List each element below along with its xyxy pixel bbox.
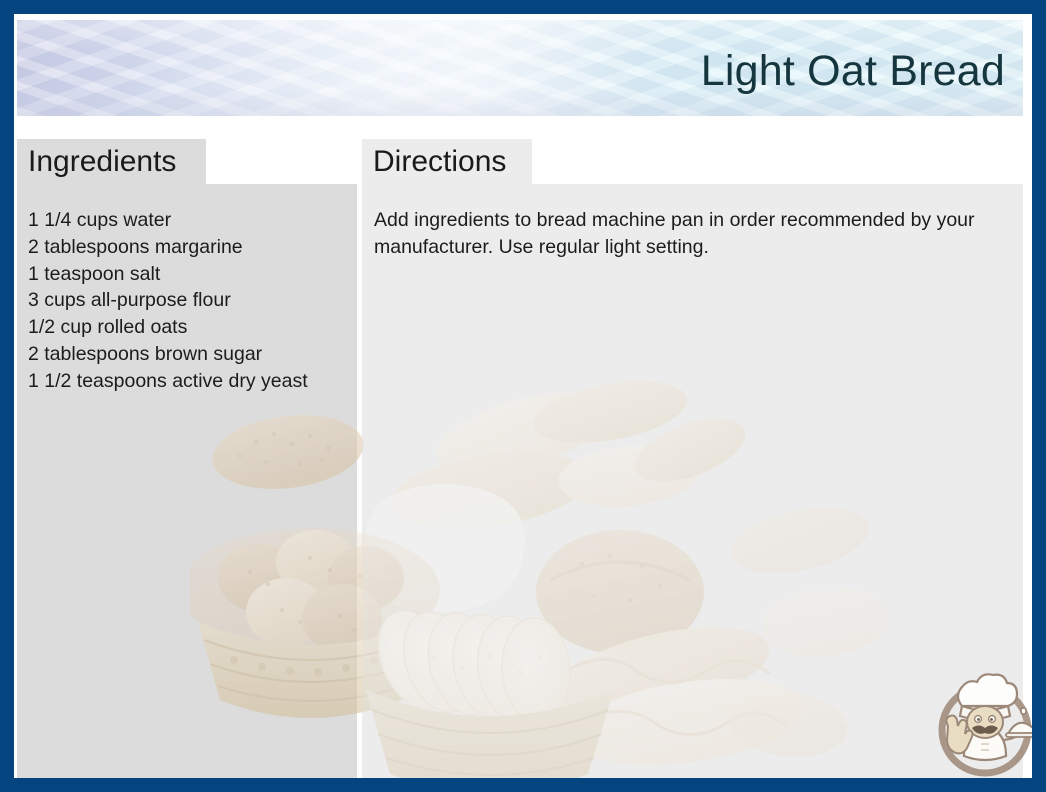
ingredients-tab-notch xyxy=(206,139,357,184)
list-item: 1/2 cup rolled oats xyxy=(28,314,350,341)
chef-with-cloche-logo xyxy=(926,660,1044,782)
tab-ingredients[interactable]: Ingredients xyxy=(17,139,206,184)
page-title: Light Oat Bread xyxy=(701,50,1005,93)
list-item: 1 teaspoon salt xyxy=(28,261,350,288)
directions-panel: Directions Add ingredients to bread mach… xyxy=(362,139,1023,783)
ingredients-list: 1 1/4 cups water 2 tablespoons margarine… xyxy=(28,207,350,395)
directions-body-text: Add ingredients to bread machine pan in … xyxy=(374,207,999,260)
ingredients-panel: Ingredients 1 1/4 cups water 2 tablespoo… xyxy=(17,139,357,783)
directions-tab-notch xyxy=(532,139,1023,184)
list-item: 3 cups all-purpose flour xyxy=(28,287,350,314)
directions-tab-label: Directions xyxy=(373,147,506,177)
recipe-slide: Light Oat Bread Ingredients 1 1/4 cups w… xyxy=(0,0,1046,792)
list-item: 1 1/4 cups water xyxy=(28,207,350,234)
tab-directions[interactable]: Directions xyxy=(362,139,532,184)
list-item: 1 1/2 teaspoons active dry yeast xyxy=(28,368,350,395)
header-banner: Light Oat Bread xyxy=(17,20,1023,116)
ingredients-tab-label: Ingredients xyxy=(28,147,176,177)
list-item: 2 tablespoons margarine xyxy=(28,234,350,261)
list-item: 2 tablespoons brown sugar xyxy=(28,341,350,368)
